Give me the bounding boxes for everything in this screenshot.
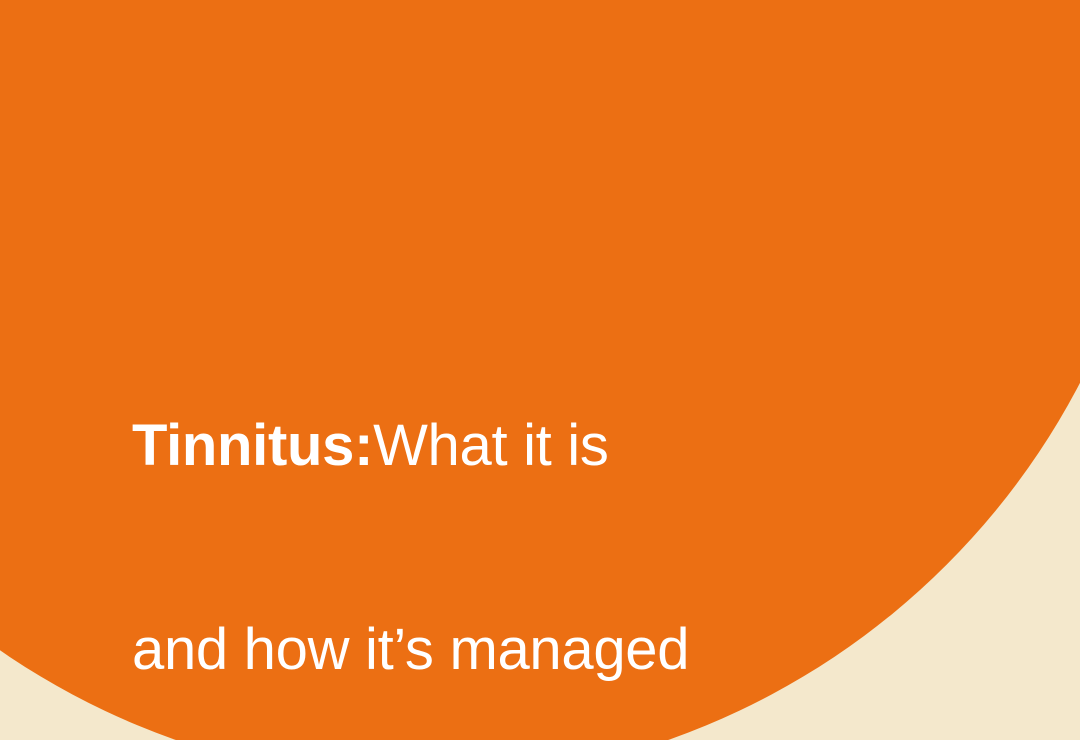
title-line-1: Tinnitus:What it is bbox=[132, 412, 952, 480]
title-line-1-rest: What it is bbox=[373, 413, 609, 478]
page-title: Tinnitus:What it is and how it’s managed bbox=[132, 276, 952, 740]
title-line-2: and how it’s managed bbox=[132, 616, 952, 684]
title-lead: Tinnitus: bbox=[132, 413, 373, 478]
title-card: Tinnitus:What it is and how it’s managed bbox=[0, 0, 1080, 740]
